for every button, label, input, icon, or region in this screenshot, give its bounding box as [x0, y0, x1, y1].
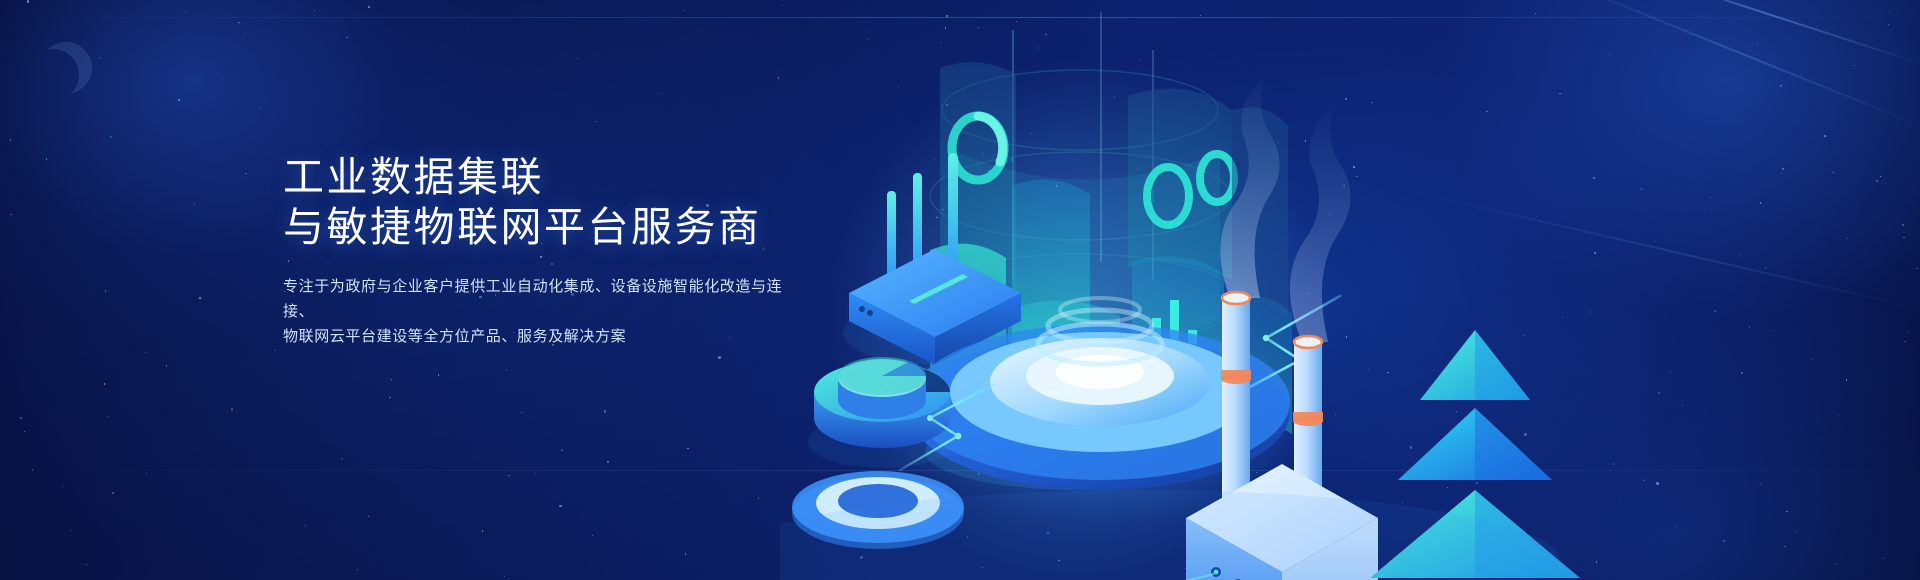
hero-banner: 工业数据集联 与敏捷物联网平台服务商 专注于为政府与企业客户提供工业自动化集成、…	[0, 0, 1920, 580]
hero-copy: 工业数据集联 与敏捷物联网平台服务商 专注于为政府与企业客户提供工业自动化集成、…	[283, 152, 923, 349]
subtitle-line-2: 物联网云平台建设等全方位产品、服务及解决方案	[283, 324, 813, 349]
hero-illustration	[780, 0, 1920, 580]
headline-line-1: 工业数据集联	[283, 152, 923, 202]
subtitle-line-1: 专注于为政府与企业客户提供工业自动化集成、设备设施智能化改造与连接、	[283, 274, 813, 324]
moon-crescent-icon	[40, 42, 92, 94]
headline-line-2: 与敏捷物联网平台服务商	[283, 202, 923, 252]
